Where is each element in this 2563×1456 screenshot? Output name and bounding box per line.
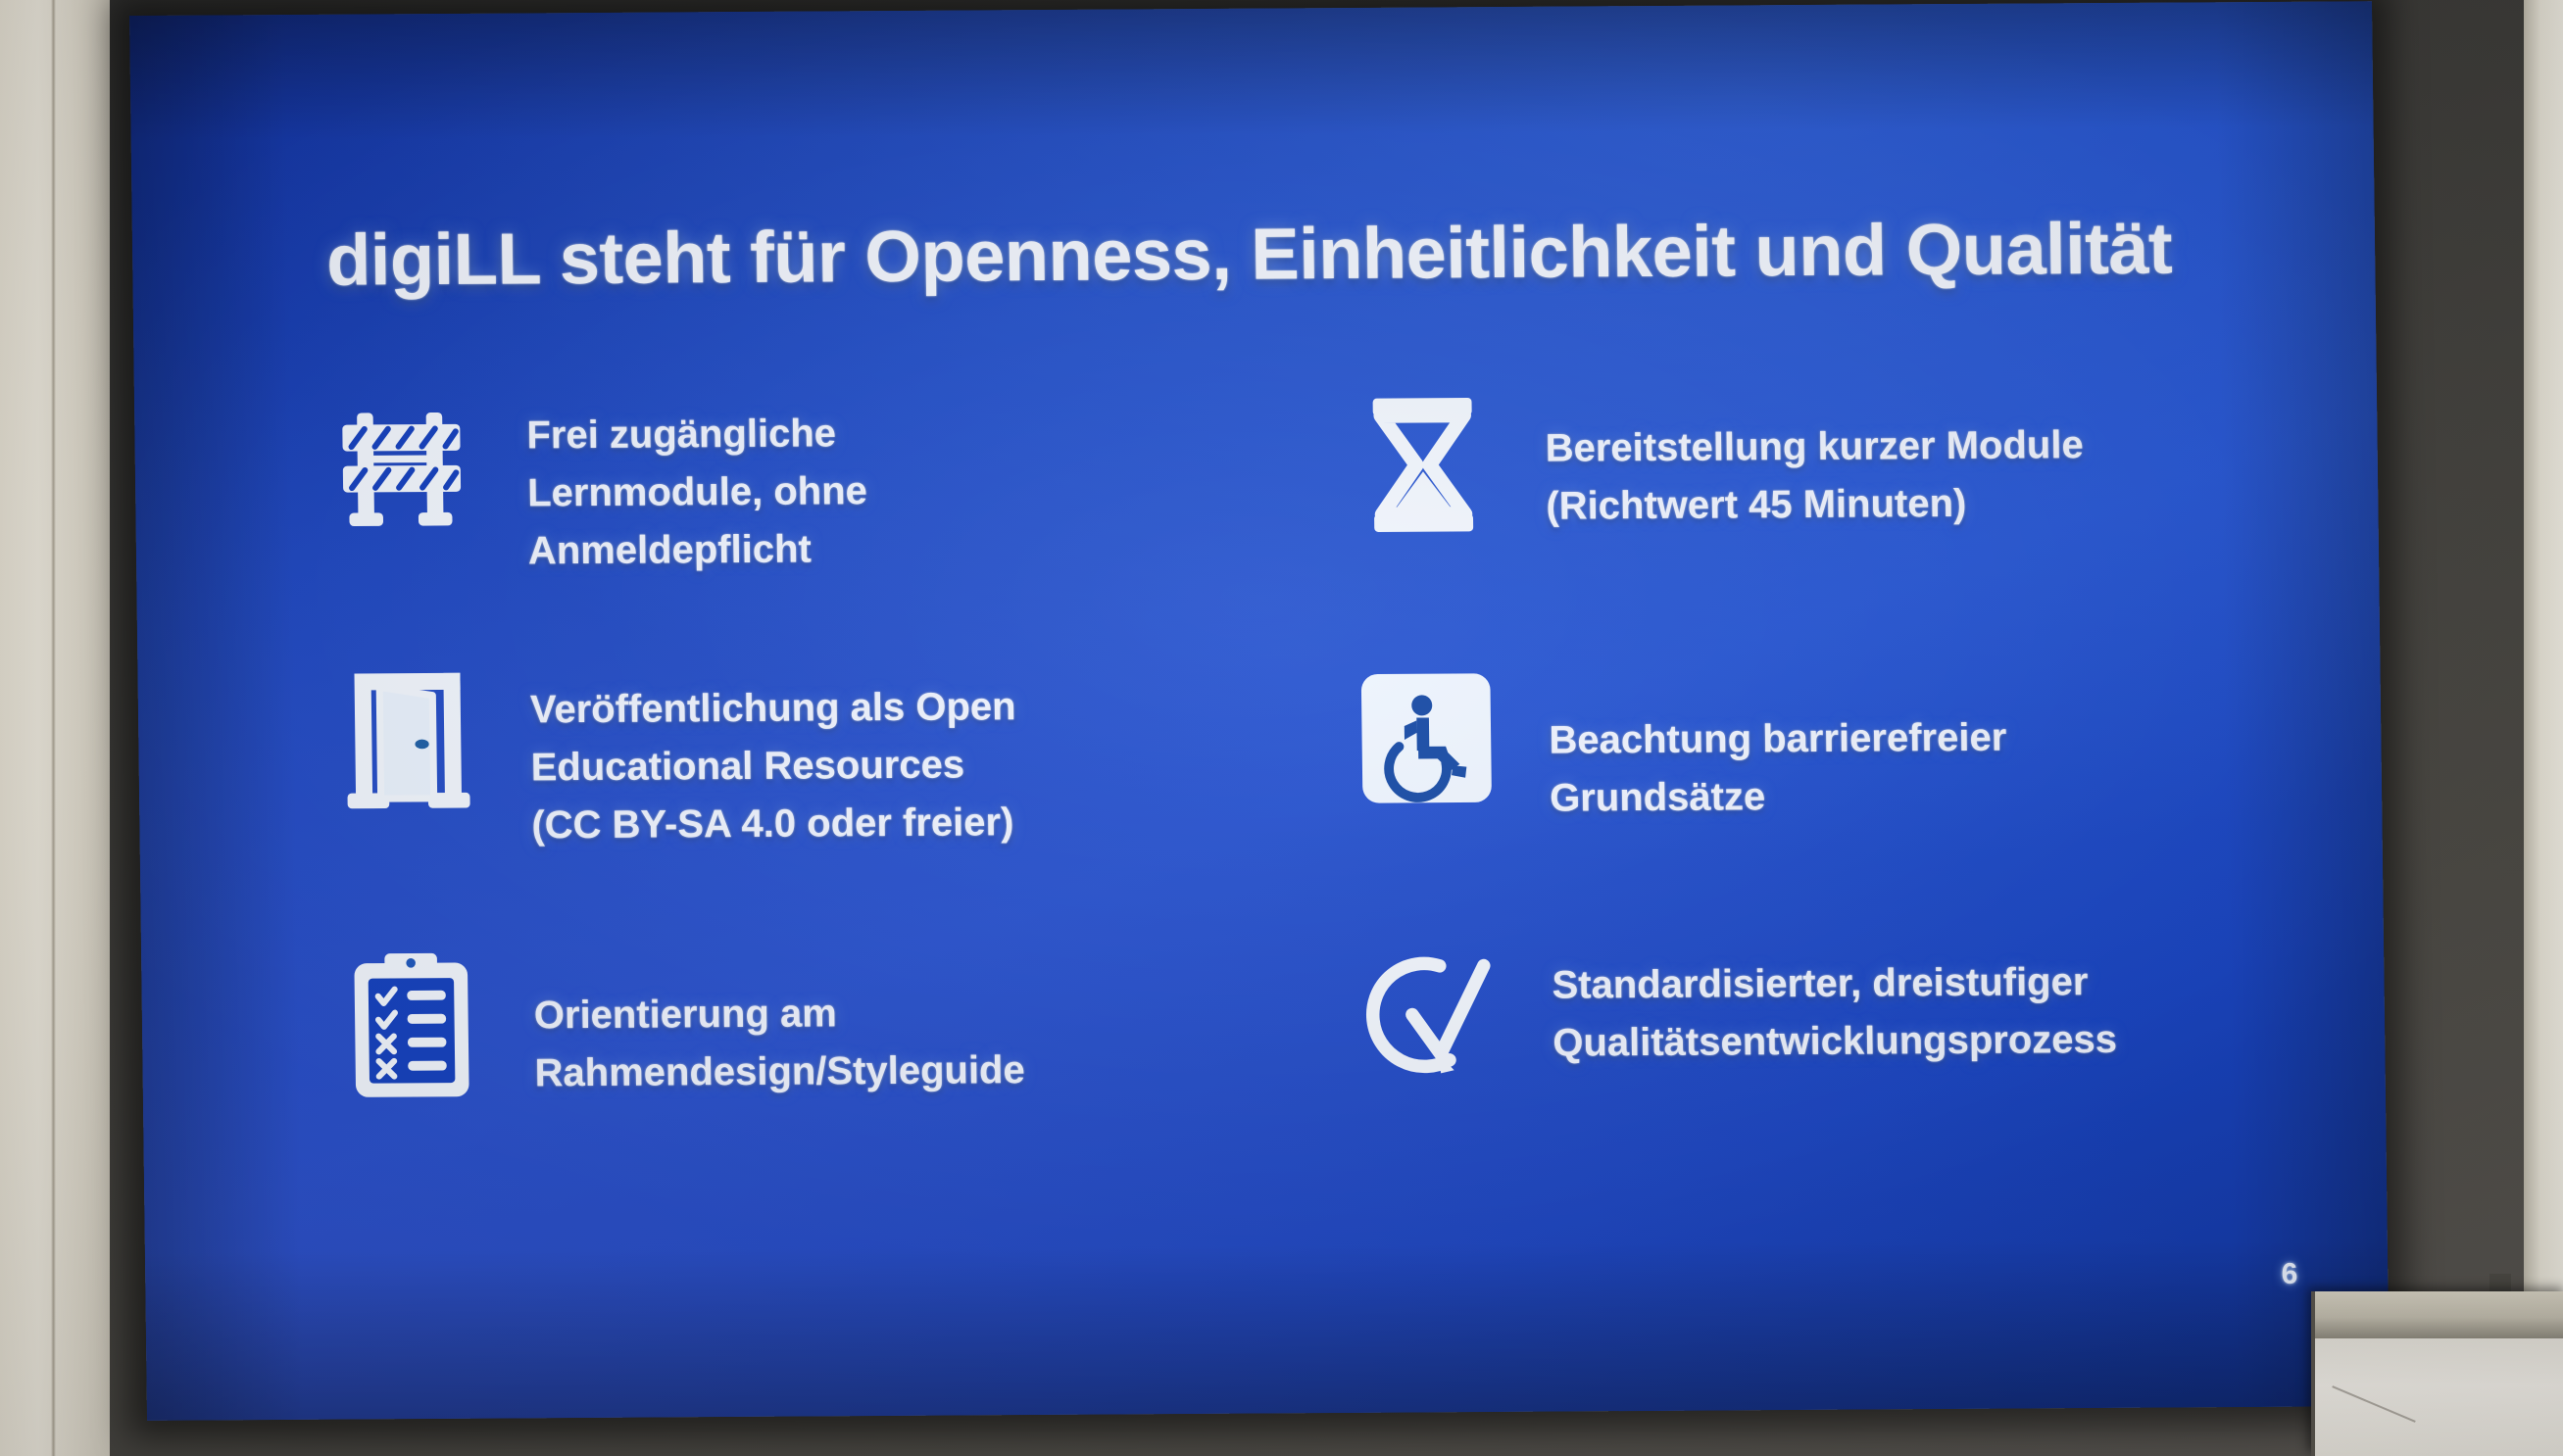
feature-item-qualitaetsentwicklungsprozess: Standardisierter, dreistufiger Qualitäts…: [1306, 915, 2310, 1185]
photographed-presentation-scene: digiLL steht für Openness, Einheitlichke…: [0, 0, 2563, 1456]
feature-line: Grundsätze: [1550, 767, 2008, 828]
feature-line: Lernmodule, ohne: [527, 462, 867, 522]
feature-line: Standardisierter, dreistufiger: [1552, 953, 2116, 1015]
feature-line: Frei zugängliche: [526, 405, 866, 464]
slide-title: digiLL steht für Openness, Einheitlichke…: [326, 210, 2288, 299]
room-wall-right: [2522, 0, 2563, 1456]
feature-line: Qualitätsentwicklungsprozess: [1553, 1011, 2117, 1073]
feature-item-bereitstellung-kurzer-module: Bereitstellung kurzer Module (Richtwert …: [1300, 386, 2303, 659]
wall-seam: [51, 0, 56, 1456]
hourglass-icon: [1300, 391, 1547, 540]
flipchart-rail: [2315, 1291, 2563, 1338]
feature-line: Bereitstellung kurzer Module: [1545, 416, 2084, 478]
flipchart-board: [2311, 1291, 2563, 1456]
wheelchair-accessibility-icon: [1303, 657, 1550, 808]
feature-text: Frei zugängliche Lernmodule, ohne Anmeld…: [526, 395, 868, 581]
flipchart-paper: [2315, 1338, 2563, 1456]
feature-text: Bereitstellung kurzer Module (Richtwert …: [1545, 387, 2085, 536]
feature-line: Educational Resources: [530, 736, 1016, 797]
feature-item-veroeffentlichung-als-oer: Veröffentlichung als Open Educational Re…: [284, 658, 1288, 928]
feature-item-beachtung-barrierefreier-grundsaetze: Beachtung barrierefreier Grundsätze: [1303, 653, 2306, 922]
feature-line: Orientierung am: [533, 984, 1024, 1044]
projected-slide: digiLL steht für Openness, Einheitlichke…: [129, 1, 2390, 1421]
feature-line: Rahmendesign/Styleguide: [534, 1042, 1025, 1102]
slide-content: digiLL steht für Openness, Einheitlichke…: [129, 1, 2390, 1421]
feature-text: Orientierung am Rahmendesign/Styleguide: [533, 923, 1025, 1103]
cycle-checkmark-icon: [1306, 920, 1553, 1087]
feature-line: (CC BY-SA 4.0 oder freier): [531, 795, 1017, 855]
clipboard-checklist-icon: [288, 926, 535, 1103]
feature-item-orientierung-am-rahmendesign: Orientierung am Rahmendesign/Styleguide: [288, 921, 1292, 1190]
feature-line: (Richtwert 45 Minuten): [1546, 474, 2085, 536]
road-barrier-icon: [281, 397, 528, 546]
feature-line: Anmeldepflicht: [528, 521, 868, 581]
open-door-icon: [284, 663, 531, 812]
slide-page-number: 6: [2281, 1258, 2297, 1291]
feature-item-frei-zugaengliche-lernmodule: Frei zugängliche Lernmodule, ohne Anmeld…: [281, 392, 1285, 665]
feature-line: Veröffentlichung als Open: [530, 678, 1016, 739]
feature-grid: Frei zugängliche Lernmodule, ohne Anmeld…: [281, 386, 2310, 1190]
feature-text: Veröffentlichung als Open Educational Re…: [529, 660, 1017, 855]
room-wall-left: [0, 0, 110, 1456]
feature-text: Standardisierter, dreistufiger Qualitäts…: [1552, 916, 2118, 1073]
flipchart-paper-crease: [2332, 1385, 2415, 1423]
feature-text: Beachtung barrierefreier Grundsätze: [1548, 655, 2007, 828]
feature-line: Beachtung barrierefreier: [1549, 709, 2007, 770]
